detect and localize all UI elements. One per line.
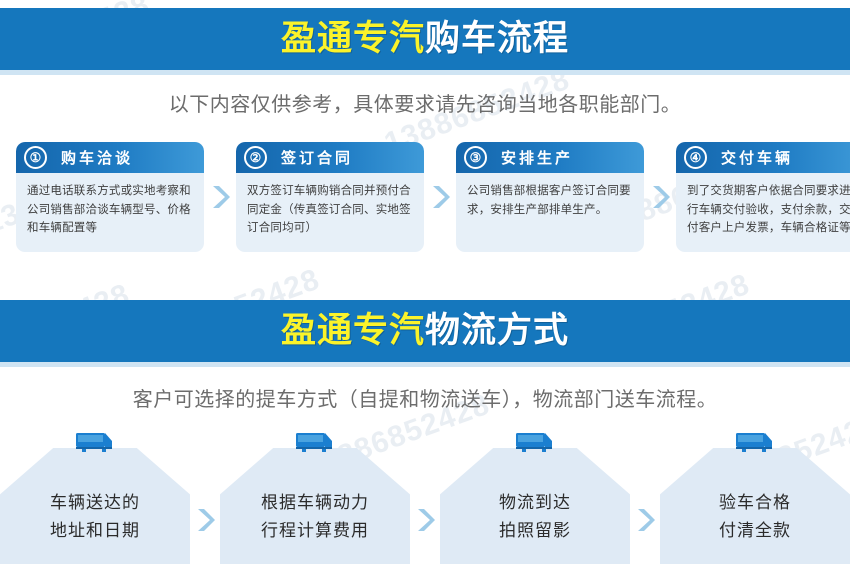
logistics-card-4[interactable]: 验车合格 付清全款 — [660, 430, 850, 564]
banner-underline — [0, 362, 850, 367]
step-body-text: 双方签订车辆购销合同并预付合同定金（传真签订合同、实地签订合同均可） — [236, 173, 424, 238]
step-body-text: 到了交货期客户依据合同要求进行车辆交付验收，支付余款，交付客户上户发票，车辆合格… — [676, 173, 850, 238]
chevron-right-icon — [630, 430, 660, 564]
step-card-4[interactable]: ④ 交付车辆 到了交货期客户依据合同要求进行车辆交付验收，支付余款，交付客户上户… — [676, 142, 850, 252]
step-card-2[interactable]: ② 签订合同 双方签订车辆购销合同并预付合同定金（传真签订合同、实地签订合同均可… — [236, 142, 424, 252]
step-header: ④ 交付车辆 — [676, 142, 850, 173]
logistics-card-shape: 物流到达 拍照留影 — [440, 448, 630, 564]
logistics-card-text: 根据车辆动力 行程计算费用 — [261, 489, 369, 544]
truck-icon — [294, 430, 336, 461]
logistics-text-line2: 行程计算费用 — [261, 517, 369, 545]
step-title: 交付车辆 — [721, 147, 793, 168]
step-title: 签订合同 — [281, 147, 353, 168]
logistics-card-1[interactable]: 车辆送达的 地址和日期 — [0, 430, 190, 564]
step-title: 购车洽谈 — [61, 147, 133, 168]
step-body-text: 通过电话联系方式或实地考察和公司销售部洽谈车辆型号、价格和车辆配置等 — [16, 173, 204, 238]
step-title: 安排生产 — [501, 147, 573, 168]
logistics-text-line1: 验车合格 — [719, 489, 791, 517]
truck-icon — [74, 430, 116, 461]
banner-title-row: 盈通专汽物流方式 — [0, 313, 850, 348]
chevron-right-icon — [644, 142, 676, 252]
step-card-3[interactable]: ③ 安排生产 公司销售部根据客户签订合同要求，安排生产部排单生产。 — [456, 142, 644, 252]
step-number-badge: ① — [24, 146, 47, 169]
logistics-text-line1: 物流到达 — [499, 489, 571, 517]
infographic-page: 13886852428 13886852428 13886852428 1388… — [0, 0, 850, 564]
step-number-badge: ② — [244, 146, 267, 169]
chevron-right-icon — [410, 430, 440, 564]
logistics-text-line2: 地址和日期 — [50, 517, 140, 545]
spacer — [8, 142, 16, 252]
purchase-steps-row: ① 购车洽谈 通过电话联系方式或实地考察和公司销售部洽谈车辆型号、价格和车辆配置… — [0, 142, 850, 260]
banner-heading: 物流方式 — [425, 311, 569, 350]
truck-icon — [734, 430, 776, 461]
step-body-text: 公司销售部根据客户签订合同要求，安排生产部排单生产。 — [456, 173, 644, 219]
step-number-badge: ④ — [684, 146, 707, 169]
step-number-badge: ③ — [464, 146, 487, 169]
step-header: ② 签订合同 — [236, 142, 424, 173]
logistics-banner: 盈通专汽物流方式 — [0, 300, 850, 362]
logistics-card-2[interactable]: 根据车辆动力 行程计算费用 — [220, 430, 410, 564]
logistics-card-shape: 验车合格 付清全款 — [660, 448, 850, 564]
logistics-text-line2: 拍照留影 — [499, 517, 571, 545]
brand-name: 盈通专汽 — [281, 19, 425, 58]
step-header: ③ 安排生产 — [456, 142, 644, 173]
purchase-subtitle: 以下内容仅供参考，具体要求请先咨询当地各职能部门。 — [0, 88, 850, 117]
logistics-text-line1: 根据车辆动力 — [261, 489, 369, 517]
chevron-right-icon — [204, 142, 236, 252]
logistics-card-shape: 根据车辆动力 行程计算费用 — [220, 448, 410, 564]
step-header: ① 购车洽谈 — [16, 142, 204, 173]
logistics-text-line1: 车辆送达的 — [50, 489, 140, 517]
logistics-cards-row: 车辆送达的 地址和日期 根据车辆动力 — [0, 430, 850, 564]
logistics-card-text: 车辆送达的 地址和日期 — [50, 489, 140, 544]
logistics-card-shape: 车辆送达的 地址和日期 — [0, 448, 190, 564]
chevron-right-icon — [190, 430, 220, 564]
truck-icon — [514, 430, 556, 461]
banner-heading: 购车流程 — [425, 19, 569, 58]
logistics-card-text: 验车合格 付清全款 — [719, 489, 791, 544]
logistics-text-line2: 付清全款 — [719, 517, 791, 545]
brand-name: 盈通专汽 — [281, 311, 425, 350]
purchase-process-banner: 盈通专汽购车流程 — [0, 8, 850, 70]
logistics-card-text: 物流到达 拍照留影 — [499, 489, 571, 544]
banner-title-row: 盈通专汽购车流程 — [0, 21, 850, 56]
banner-underline — [0, 70, 850, 75]
logistics-subtitle: 客户可选择的提车方式（自提和物流送车），物流部门送车流程。 — [0, 383, 850, 412]
step-card-1[interactable]: ① 购车洽谈 通过电话联系方式或实地考察和公司销售部洽谈车辆型号、价格和车辆配置… — [16, 142, 204, 252]
chevron-right-icon — [424, 142, 456, 252]
logistics-card-3[interactable]: 物流到达 拍照留影 — [440, 430, 630, 564]
